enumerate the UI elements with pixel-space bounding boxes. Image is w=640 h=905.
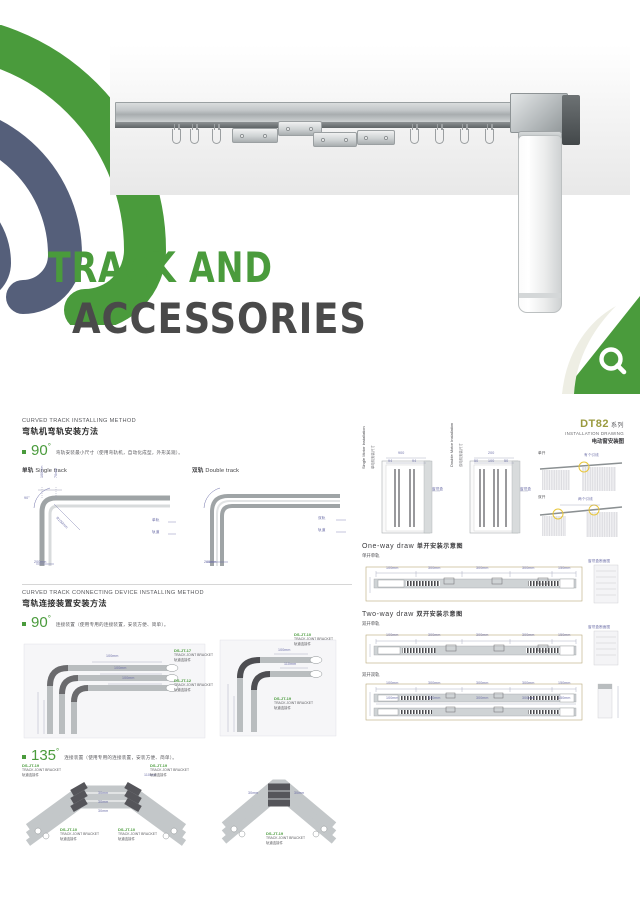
rail-end-cap-dark bbox=[562, 95, 580, 145]
dim-ow-1: 300mm bbox=[428, 566, 440, 570]
bracket-cn: 轨道连接件 bbox=[150, 772, 189, 777]
runner-hook bbox=[410, 129, 419, 144]
dt82-title-cn: 电动窗安装图 bbox=[362, 437, 624, 445]
dim-right-2: 轨道 bbox=[318, 528, 325, 533]
dim-tw2-9: 150mm bbox=[558, 696, 570, 700]
dim-s2-3: 100mm bbox=[122, 676, 134, 680]
dim-angle-mark: 90° bbox=[24, 496, 30, 500]
dim-tw2-2: 300mm bbox=[476, 681, 488, 685]
bracket-callout: DS-JT-19 TRACK JOINT BRACKET 轨道连接件 bbox=[150, 763, 189, 777]
section1-title-cn: 弯轨机弯轨安装方法 bbox=[22, 426, 352, 437]
ceiling-bracket bbox=[232, 128, 278, 143]
page-footer: http://www.sunhuinexi.com S 3 ehome smar… bbox=[0, 850, 640, 905]
bracket-hole bbox=[309, 127, 313, 131]
motor-installation-diagrams: 900 94 94 窗帘盒 Single Motor Installation … bbox=[362, 451, 624, 537]
double-track-label: 双轨 Double track bbox=[192, 466, 239, 474]
dim-tw-1: 300mm bbox=[428, 633, 440, 637]
dt82-title-en: INSTALLATION DRAWING bbox=[362, 431, 624, 436]
bracket-hole bbox=[321, 138, 325, 142]
oneway-title: One-way draw 单开安装示意图 bbox=[362, 541, 624, 550]
oneway-subtitle: 单开单轨 bbox=[362, 553, 624, 559]
tubular-motor bbox=[518, 135, 562, 313]
dim-ow-3: 300mm bbox=[522, 566, 534, 570]
double-track-bend-drawing: 205mm 双轨 轨道 bbox=[198, 482, 348, 570]
hero-banner: TRACK AND ACCESSORIES bbox=[0, 0, 640, 400]
dim-tw-3: 300mm bbox=[522, 633, 534, 637]
dim-tw2-1: 300mm bbox=[428, 681, 440, 685]
dim-s3-5: 30mm bbox=[294, 791, 304, 795]
dim-top-2: 70mm bbox=[54, 468, 58, 478]
twoway-subtitle-2: 双开双轨 bbox=[362, 672, 624, 678]
bracket-callout: DS-JT-10 TRACK JOINT BRACKET 轨道连接件 bbox=[118, 827, 157, 841]
twoway-double-diagram: 100mm 300mm 300mm 300mm 150mm 100mm 300m… bbox=[362, 680, 624, 726]
section1-title-en: CURVED TRACK INSTALLING METHOD bbox=[22, 418, 352, 424]
runner-hook bbox=[485, 129, 494, 144]
bracket-en: TRACK JOINT BRACKET bbox=[118, 832, 157, 836]
left-drawing-column: CURVED TRACK INSTALLING METHOD 弯轨机弯轨安装方法… bbox=[22, 418, 352, 853]
double-motor-label-cn: 双电机安装尺寸 bbox=[458, 443, 463, 467]
dim-s3-1: 30mm bbox=[98, 791, 108, 795]
bracket-en: TRACK JOINT BRACKET bbox=[22, 768, 61, 772]
title-line-2: ACCESSORIES bbox=[72, 294, 367, 343]
section-connecting-device: CURVED TRACK CONNECTING DEVICE INSTALLIN… bbox=[22, 584, 352, 630]
twoway-side-label: 窗帘盒断面图 bbox=[588, 625, 610, 630]
dim-s3-3: 30mm bbox=[98, 809, 108, 813]
bracket-cn: 轨道连接件 bbox=[294, 641, 333, 646]
section2-title-cn: 弯轨连接装置安装方法 bbox=[22, 598, 352, 609]
dim-s2-1: 100mm bbox=[106, 654, 118, 658]
single-track-bend-drawing: 200mm 90° R100mm 100mm 70mm 单轨 轨道 bbox=[28, 482, 178, 570]
divider bbox=[22, 584, 352, 585]
section3-note: 连接装置（使用专用的连接装置，安装方便、简单）。 bbox=[64, 755, 177, 761]
dim-ow-4: 150mm bbox=[558, 566, 570, 570]
runner-hook bbox=[190, 129, 199, 144]
single-motor-label-cn: 单电机安装尺寸 bbox=[370, 445, 375, 469]
section-curved-track-installing: CURVED TRACK INSTALLING METHOD 弯轨机弯轨安装方法… bbox=[22, 418, 352, 458]
bracket-callout: DS-JT-10 TRACK JOINT BRACKET 轨道连接件 bbox=[294, 632, 333, 646]
section1-diagrams: 单轨 Single track 双轨 Double track bbox=[22, 466, 352, 578]
section2-diagrams: 100mm 100mm 100mm DS-JT-17 TRACK JOINT B… bbox=[22, 634, 352, 742]
double-motor-label-en: Double Motor Installation bbox=[449, 423, 454, 467]
bracket-en: TRACK JOINT BRACKET bbox=[266, 836, 305, 840]
section2-title-en: CURVED TRACK CONNECTING DEVICE INSTALLIN… bbox=[22, 590, 352, 596]
page-title: TRACK AND ACCESSORIES bbox=[48, 243, 407, 343]
dim-right-1: 双轨 bbox=[318, 516, 325, 521]
dim-top-1: 100mm bbox=[40, 466, 44, 478]
technical-drawing-sheet: CURVED TRACK INSTALLING METHOD 弯轨机弯轨安装方法… bbox=[0, 418, 640, 850]
dim-sm-2: 94 bbox=[412, 459, 416, 463]
dim-tw2-0: 100mm bbox=[386, 681, 398, 685]
dim-s2-5: 110mm bbox=[284, 662, 296, 666]
dim-tw-4: 150mm bbox=[558, 633, 570, 637]
dim-s2-2: 100mm bbox=[114, 666, 126, 670]
dim-s3-4: 30mm bbox=[248, 791, 258, 795]
bracket-hole bbox=[344, 138, 348, 142]
ceiling-bracket bbox=[357, 130, 395, 145]
section2-angle-row: 90° 连接装置（使用专用的连接装置，安装方便、简单）。 bbox=[22, 615, 352, 630]
dim-s3-2: 30mm bbox=[98, 800, 108, 804]
runner-hook bbox=[172, 129, 181, 144]
dim-dm-0: 200 bbox=[488, 451, 494, 455]
curtain-note-double: 两个引线 bbox=[578, 497, 593, 502]
dim-dm-3: 50 bbox=[504, 459, 508, 463]
single-motor-diagram: 900 94 94 窗帘盒 Single Motor Installation … bbox=[362, 451, 442, 535]
bracket-callout: DS-JT-17 TRACK JOINT BRACKET 轨道连接件 bbox=[174, 648, 213, 662]
single-track-label: 单轨 Single track bbox=[22, 466, 67, 474]
curtain-label-single: 单开 bbox=[538, 451, 545, 456]
dt82-header: DT82系列 INSTALLATION DRAWING 电动窗安装图 bbox=[362, 418, 624, 445]
bullet-square-icon bbox=[22, 450, 26, 454]
right-drawing-column: DT82系列 INSTALLATION DRAWING 电动窗安装图 900 bbox=[362, 418, 624, 726]
section-135-degree: 135° 连接装置（使用专用的连接装置，安装方便、简单）。 bbox=[22, 748, 352, 763]
bracket-callout: DS-JT-19 TRACK JOINT BRACKET 轨道连接件 bbox=[274, 696, 313, 710]
bracket-cn: 轨道连接件 bbox=[118, 836, 157, 841]
section1-note: 弯轨安装最小尺寸（使用弯轨机，自动化成型，外形美观）。 bbox=[56, 450, 183, 456]
bracket-callout: DS-JT-19 TRACK JOINT BRACKET 轨道连接件 bbox=[266, 831, 305, 845]
dim-tw2-5: 100mm bbox=[386, 696, 398, 700]
bracket-en: TRACK JOINT BRACKET bbox=[150, 768, 189, 772]
double-motor-diagram: 200 50 100 50 窗帘盒 Double Motor Installat… bbox=[450, 451, 530, 535]
double-motor-note: 窗帘盒 bbox=[520, 487, 531, 492]
dim-single-bottom: 200mm bbox=[34, 560, 46, 564]
single-motor-note: 窗帘盒 bbox=[432, 487, 443, 492]
twoway-title: Two-way draw 双开安装示意图 bbox=[362, 609, 624, 618]
bracket-en: TRACK JOINT BRACKET bbox=[274, 701, 313, 705]
section2-note: 连接装置（使用专用的连接装置，安装方便、简单）。 bbox=[56, 622, 169, 628]
dim-dm-1: 50 bbox=[474, 459, 478, 463]
dim-right-1: 单轨 bbox=[152, 518, 159, 523]
bracket-en: TRACK JOINT BRACKET bbox=[174, 653, 213, 657]
dim-ow-0: 100mm bbox=[386, 566, 398, 570]
runner-hook bbox=[460, 129, 469, 144]
dim-tw2-7: 300mm bbox=[476, 696, 488, 700]
bracket-hole bbox=[240, 134, 244, 138]
runner-hook bbox=[212, 129, 221, 144]
dim-double-bottom: 205mm bbox=[204, 560, 216, 564]
twoway-single-diagram: 100mm 300mm 300mm 300mm 150mm 窗帘盒断面图 bbox=[362, 629, 624, 669]
oneway-side-label: 窗帘盒断面图 bbox=[588, 559, 610, 564]
runner-hook bbox=[435, 129, 444, 144]
catalog-page: TRACK AND ACCESSORIES CURVED TRACK INSTA… bbox=[0, 0, 640, 905]
bullet-square-icon bbox=[22, 755, 26, 759]
bracket-cn: 轨道连接件 bbox=[60, 836, 99, 841]
bracket-callout: DS-JT-19 TRACK JOINT BRACKET 轨道连接件 bbox=[22, 763, 61, 777]
dim-right-2: 轨道 bbox=[152, 530, 159, 535]
bracket-en: TRACK JOINT BRACKET bbox=[60, 832, 99, 836]
section1-angle: 90° bbox=[31, 443, 51, 458]
dim-tw2-6: 300mm bbox=[428, 696, 440, 700]
bracket-en: TRACK JOINT BRACKET bbox=[174, 683, 213, 687]
bracket-cn: 轨道连接件 bbox=[274, 705, 313, 710]
bracket-hole bbox=[384, 136, 388, 140]
bracket-en: TRACK JOINT BRACKET bbox=[294, 637, 333, 641]
section3-angle: 135° bbox=[31, 748, 59, 763]
curtain-note-single: 有个引线 bbox=[584, 453, 599, 458]
dim-tw2-3: 300mm bbox=[522, 681, 534, 685]
ceiling-bracket bbox=[313, 132, 357, 147]
dim-sm-1: 94 bbox=[388, 459, 392, 463]
bracket-callout: DS-JT-12 TRACK JOINT BRACKET 轨道连接件 bbox=[174, 678, 213, 692]
dim-ow-2: 300mm bbox=[476, 566, 488, 570]
bracket-cn: 轨道连接件 bbox=[22, 772, 61, 777]
section3-angle-row: 135° 连接装置（使用专用的连接装置，安装方便、简单）。 bbox=[22, 748, 352, 763]
twoway-draw-block: Two-way draw 双开安装示意图 双开单轨 bbox=[362, 609, 624, 726]
section2-angle: 90° bbox=[31, 615, 51, 630]
bracket-hole bbox=[364, 136, 368, 140]
dim-dm-2: 100 bbox=[488, 459, 494, 463]
dim-tw2-8: 300mm bbox=[522, 696, 534, 700]
title-line-1: TRACK AND bbox=[48, 243, 364, 292]
dim-tw-2: 300mm bbox=[476, 633, 488, 637]
dim-tw2-4: 150mm bbox=[558, 681, 570, 685]
dim-s2-4: 100mm bbox=[278, 648, 290, 652]
curtain-label-double: 双开 bbox=[538, 495, 545, 500]
curtain-rail bbox=[115, 102, 533, 123]
single-motor-label-en: Single Motor Installation bbox=[361, 426, 366, 469]
oneway-draw-block: One-way draw 单开安装示意图 单开单轨 bbox=[362, 541, 624, 607]
bracket-cn: 轨道连接件 bbox=[266, 840, 305, 845]
section1-angle-row: 90° 弯轨安装最小尺寸（使用弯轨机，自动化成型，外形美观）。 bbox=[22, 443, 352, 458]
bracket-cn: 轨道连接件 bbox=[174, 657, 213, 662]
rail-end-cap bbox=[510, 93, 568, 133]
dim-sm-0: 900 bbox=[398, 451, 404, 455]
bracket-hole bbox=[286, 127, 290, 131]
bullet-square-icon bbox=[22, 622, 26, 626]
dim-tw-0: 100mm bbox=[386, 633, 398, 637]
bracket-cn: 轨道连接件 bbox=[174, 687, 213, 692]
corner-ribbon[interactable] bbox=[552, 296, 640, 394]
dt82-model: DT82系列 bbox=[362, 418, 624, 430]
oneway-diagram: 100mm 300mm 300mm 300mm 150mm 窗帘盒断面图 bbox=[362, 561, 624, 607]
bracket-hole bbox=[263, 134, 267, 138]
twoway-subtitle-1: 双开单轨 bbox=[362, 621, 624, 627]
bracket-callout: DS-JT-10 TRACK JOINT BRACKET 轨道连接件 bbox=[60, 827, 99, 841]
section3-diagrams: 30mm 30mm 30mm 110mm DS-JT-19 TRACK JOIN… bbox=[22, 767, 352, 853]
